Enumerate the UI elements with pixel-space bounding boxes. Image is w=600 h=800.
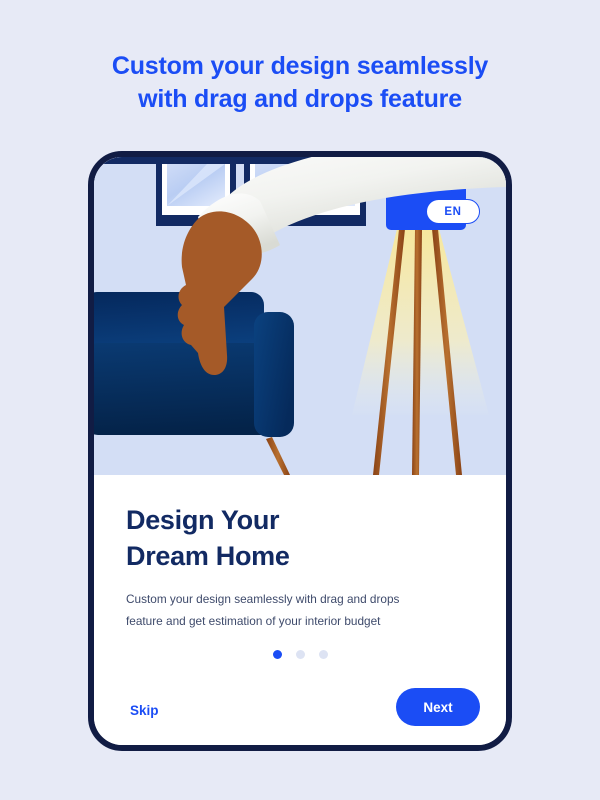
pagination-dot-2[interactable] — [296, 650, 305, 659]
card-heading-line-2: Dream Home — [126, 539, 290, 575]
hand-dragging-sofa-illustration: EN — [94, 157, 506, 475]
card-description: Custom your design seamlessly with drag … — [126, 589, 446, 633]
card-content: Design Your Dream Home Custom your desig… — [94, 475, 506, 745]
skip-button[interactable]: Skip — [130, 703, 159, 718]
page-title-line-2: with drag and drops feature — [0, 83, 600, 116]
pagination-dot-3[interactable] — [319, 650, 328, 659]
pagination-dots — [94, 650, 506, 659]
card-description-line-1: Custom your design seamlessly with drag … — [126, 589, 446, 611]
pagination-dot-1[interactable] — [273, 650, 282, 659]
card-heading-line-1: Design Your — [126, 503, 290, 539]
card-description-line-2: feature and get estimation of your inter… — [126, 611, 446, 633]
page-title-line-1: Custom your design seamlessly — [0, 50, 600, 83]
page-title: Custom your design seamlessly with drag … — [0, 50, 600, 116]
card-heading: Design Your Dream Home — [126, 503, 290, 574]
language-badge[interactable]: EN — [426, 199, 480, 224]
language-badge-label: EN — [444, 206, 461, 218]
sofa-armrest — [254, 312, 294, 437]
next-button[interactable]: Next — [396, 688, 480, 726]
onboarding-card: EN Design Your Dream Home Custom your de… — [88, 151, 512, 751]
